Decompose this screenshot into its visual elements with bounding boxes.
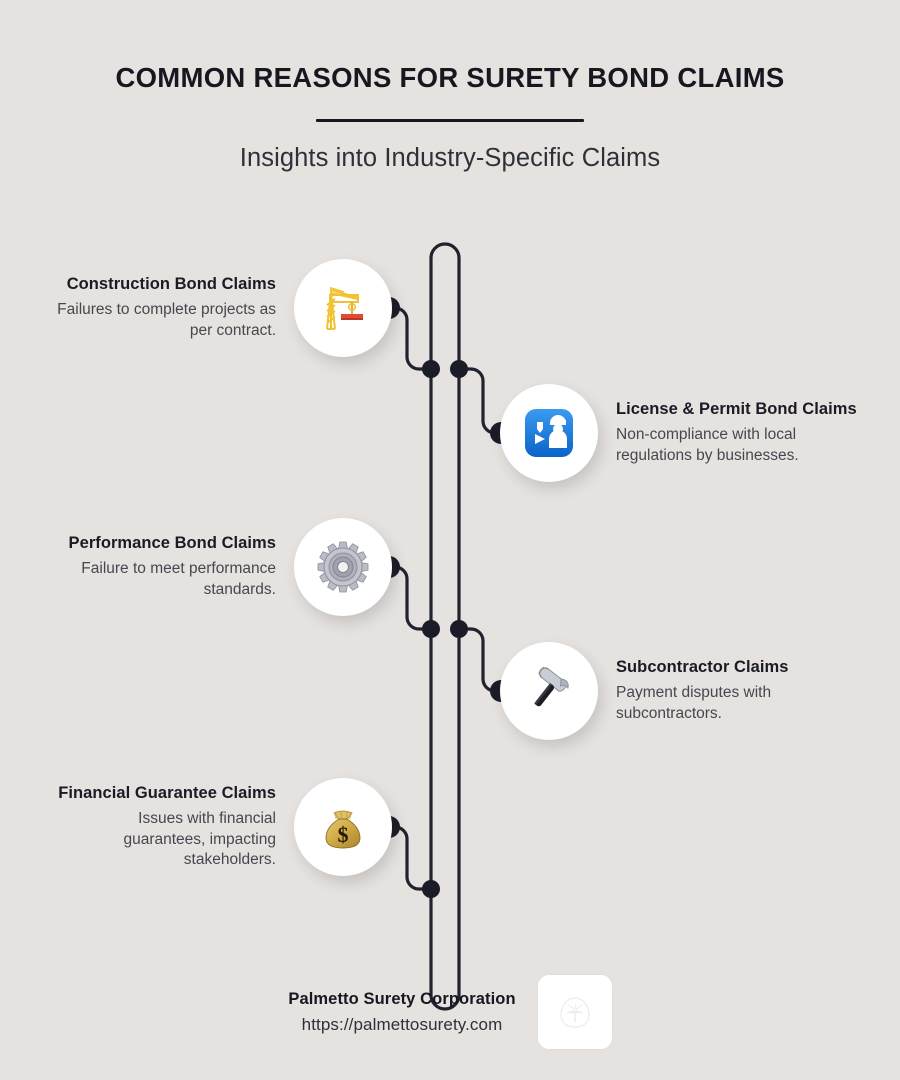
item-text: Performance Bond Claims Failure to meet … [52, 534, 294, 600]
item-description: Failure to meet performance standards. [52, 559, 276, 600]
item-icon-bubble[interactable]: $ [294, 778, 392, 876]
footer-url[interactable]: https://palmettosurety.com [288, 1015, 515, 1035]
item-title: Performance Bond Claims [52, 534, 276, 553]
item-description: Non-compliance with local regulations by… [616, 425, 860, 466]
hammer-icon [521, 663, 577, 719]
item-description: Failures to complete projects as per con… [52, 300, 276, 341]
header: COMMON REASONS FOR SURETY BOND CLAIMS In… [0, 0, 900, 173]
item-text: Subcontractor Claims Payment disputes wi… [598, 658, 860, 724]
connector-nodes [378, 297, 512, 898]
palmetto-tree-logo-icon [558, 995, 592, 1029]
page-subtitle: Insights into Industry-Specific Claims [0, 122, 900, 173]
footer-logo[interactable] [538, 975, 612, 1049]
item-icon-bubble[interactable] [500, 642, 598, 740]
page-title: COMMON REASONS FOR SURETY BOND CLAIMS [0, 0, 900, 94]
item-title: Subcontractor Claims [616, 658, 860, 677]
gear-icon [316, 540, 370, 594]
item-description: Issues with financial guarantees, impact… [52, 809, 276, 870]
footer-company-name: Palmetto Surety Corporation [288, 990, 515, 1009]
item-description: Payment disputes with subcontractors. [616, 683, 860, 724]
list-item[interactable]: Construction Bond Claims Failures to com… [52, 259, 392, 357]
list-item[interactable]: Subcontractor Claims Payment disputes wi… [500, 642, 860, 740]
footer-text: Palmetto Surety Corporation https://palm… [288, 990, 515, 1035]
list-item[interactable]: License & Permit Bond Claims Non-complia… [500, 384, 860, 482]
list-item[interactable]: Performance Bond Claims Failure to meet … [52, 518, 392, 616]
footer: Palmetto Surety Corporation https://palm… [0, 975, 900, 1049]
crane-icon [314, 279, 372, 337]
item-title: Financial Guarantee Claims [52, 784, 276, 803]
item-title: Construction Bond Claims [52, 275, 276, 294]
item-title: License & Permit Bond Claims [616, 400, 860, 419]
svg-text:$: $ [338, 822, 349, 847]
item-icon-bubble[interactable] [294, 259, 392, 357]
list-item[interactable]: Financial Guarantee Claims Issues with f… [52, 778, 392, 876]
money-bag-icon: $ [316, 800, 370, 854]
item-icon-bubble[interactable] [294, 518, 392, 616]
item-text: Financial Guarantee Claims Issues with f… [52, 784, 294, 871]
item-text: Construction Bond Claims Failures to com… [52, 275, 294, 341]
item-text: License & Permit Bond Claims Non-complia… [598, 400, 860, 466]
item-icon-bubble[interactable] [500, 384, 598, 482]
passport-control-icon [520, 404, 578, 462]
